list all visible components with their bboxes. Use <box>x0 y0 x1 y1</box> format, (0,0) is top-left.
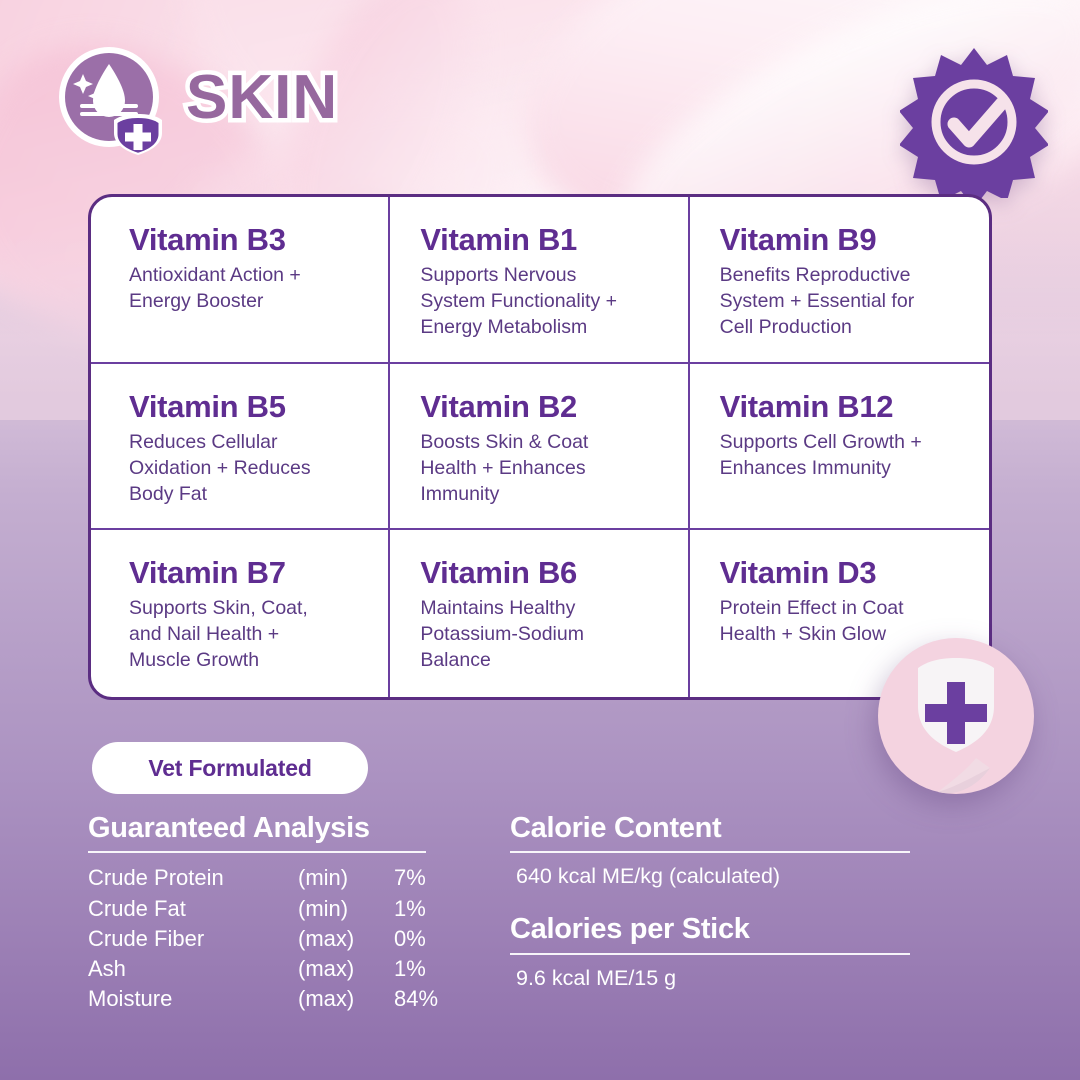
nutrient-qualifier: (min) <box>298 863 394 893</box>
table-row: Crude Fat (min) 1% <box>88 894 458 924</box>
vitamin-cell: Vitamin B12 Supports Cell Growth + Enhan… <box>690 364 989 531</box>
vitamin-description: Supports Nervous System Functionality + … <box>420 263 661 341</box>
skin-droplet-shield-icon <box>56 44 168 156</box>
vitamin-description: Benefits Reproductive System + Essential… <box>720 263 963 341</box>
vitamins-grid-card: Vitamin B3 Antioxidant Action + Energy B… <box>88 194 992 700</box>
nutrient-name: Crude Protein <box>88 863 298 893</box>
vitamin-cell: Vitamin B7 Supports Skin, Coat, and Nail… <box>91 530 390 697</box>
vitamin-cell: Vitamin B5 Reduces Cellular Oxidation + … <box>91 364 390 531</box>
nutrient-name: Moisture <box>88 984 298 1014</box>
vitamin-name: Vitamin B12 <box>720 390 963 424</box>
facts-section: Guaranteed Analysis Crude Protein (min) … <box>88 812 1008 1015</box>
nutrient-name: Crude Fiber <box>88 924 298 954</box>
nutrient-qualifier: (max) <box>298 924 394 954</box>
poster-header: SKIN <box>56 44 338 156</box>
vitamin-cell: Vitamin B2 Boosts Skin & Coat Health + E… <box>390 364 689 531</box>
vitamin-name: Vitamin D3 <box>720 556 963 590</box>
guaranteed-analysis-heading: Guaranteed Analysis <box>88 812 458 845</box>
vitamin-name: Vitamin B5 <box>129 390 362 424</box>
vitamin-name: Vitamin B9 <box>720 223 963 257</box>
divider <box>510 851 910 853</box>
poster-canvas: SKIN Vitamin B3 Antioxidant Action + Ene… <box>0 0 1080 1080</box>
table-row: Ash (max) 1% <box>88 954 458 984</box>
calories-block: Calorie Content 640 kcal ME/kg (calculat… <box>510 812 910 1015</box>
nutrient-qualifier: (min) <box>298 894 394 924</box>
calories-per-stick-heading: Calories per Stick <box>510 913 910 946</box>
table-row: Crude Fiber (max) 0% <box>88 924 458 954</box>
check-circle-seal-icon <box>900 46 1048 198</box>
vitamin-cell: Vitamin B3 Antioxidant Action + Energy B… <box>91 197 390 364</box>
vitamin-description: Supports Skin, Coat, and Nail Health + M… <box>129 596 362 674</box>
vitamin-name: Vitamin B7 <box>129 556 362 590</box>
guaranteed-analysis-block: Guaranteed Analysis Crude Protein (min) … <box>88 812 458 1015</box>
vitamin-name: Vitamin B2 <box>420 390 661 424</box>
vitamin-description: Maintains Healthy Potassium-Sodium Balan… <box>420 596 661 674</box>
nutrient-value: 1% <box>394 954 458 984</box>
vitamin-name: Vitamin B3 <box>129 223 362 257</box>
table-row: Moisture (max) 84% <box>88 984 458 1014</box>
nutrient-value: 0% <box>394 924 458 954</box>
vitamin-cell: Vitamin B9 Benefits Reproductive System … <box>690 197 989 364</box>
divider <box>510 953 910 955</box>
vitamin-description: Supports Cell Growth + Enhances Immunity <box>720 430 963 482</box>
nutrient-qualifier: (max) <box>298 954 394 984</box>
divider <box>88 851 426 853</box>
nutrient-name: Crude Fat <box>88 894 298 924</box>
nutrient-qualifier: (max) <box>298 984 394 1014</box>
vitamin-cell: Vitamin B1 Supports Nervous System Funct… <box>390 197 689 364</box>
vitamin-name: Vitamin B6 <box>420 556 661 590</box>
page-title: SKIN <box>186 67 338 129</box>
calorie-content-heading: Calorie Content <box>510 812 910 845</box>
vitamin-description: Boosts Skin & Coat Health + Enhances Imm… <box>420 430 661 508</box>
vitamin-cell: Vitamin B6 Maintains Healthy Potassium-S… <box>390 530 689 697</box>
vitamin-description: Antioxidant Action + Energy Booster <box>129 263 362 315</box>
calories-per-stick-value: 9.6 kcal ME/15 g <box>516 965 910 993</box>
vitamin-description: Reduces Cellular Oxidation + Reduces Bod… <box>129 430 362 508</box>
guaranteed-analysis-table: Crude Protein (min) 7% Crude Fat (min) 1… <box>88 863 458 1014</box>
vet-formulated-badge: Vet Formulated <box>92 742 368 794</box>
shield-plus-icon <box>872 636 1040 804</box>
vitamin-name: Vitamin B1 <box>420 223 661 257</box>
table-row: Crude Protein (min) 7% <box>88 863 458 893</box>
nutrient-value: 84% <box>394 984 458 1014</box>
calorie-content-value: 640 kcal ME/kg (calculated) <box>516 863 910 891</box>
nutrient-name: Ash <box>88 954 298 984</box>
nutrient-value: 7% <box>394 863 458 893</box>
nutrient-value: 1% <box>394 894 458 924</box>
